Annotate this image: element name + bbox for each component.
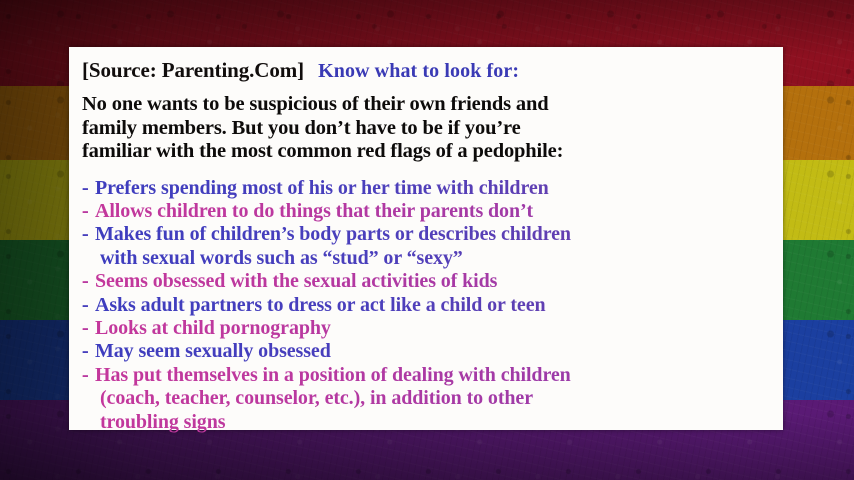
- red-flag-item: -Allows children to do things that their…: [82, 200, 769, 223]
- info-card: [Source: Parenting.Com] Know what to loo…: [69, 47, 783, 430]
- red-flag-text: Looks at child pornography: [95, 317, 331, 340]
- red-flag-text: May seem sexually obsessed: [95, 340, 331, 363]
- red-flag-item: -Has put themselves in a position of dea…: [82, 364, 769, 434]
- headline-row: [Source: Parenting.Com] Know what to loo…: [82, 58, 769, 83]
- bullet-dash-icon: -: [82, 223, 95, 246]
- bullet-dash-icon: -: [82, 177, 95, 200]
- intro-paragraph: No one wants to be suspicious of their o…: [82, 93, 769, 164]
- red-flag-item: -Seems obsessed with the sexual activiti…: [82, 270, 769, 293]
- red-flag-line: Looks at child pornography: [95, 317, 331, 340]
- red-flag-item: -Prefers spending most of his or her tim…: [82, 177, 769, 200]
- red-flag-line: troubling signs: [95, 411, 571, 434]
- bullet-dash-icon: -: [82, 317, 95, 340]
- red-flag-text: Has put themselves in a position of deal…: [95, 364, 571, 434]
- red-flag-item: -Makes fun of children’s body parts or d…: [82, 223, 769, 270]
- red-flag-text: Asks adult partners to dress or act like…: [95, 294, 546, 317]
- red-flag-text: Seems obsessed with the sexual activitie…: [95, 270, 497, 293]
- card-subtitle: Know what to look for:: [318, 60, 519, 83]
- source-attribution: [Source: Parenting.Com]: [82, 58, 304, 83]
- bullet-dash-icon: -: [82, 270, 95, 293]
- red-flag-line: with sexual words such as “stud” or “sex…: [95, 247, 571, 270]
- red-flag-item: -May seem sexually obsessed: [82, 340, 769, 363]
- red-flag-text: Allows children to do things that their …: [95, 200, 533, 223]
- red-flag-line: Asks adult partners to dress or act like…: [95, 294, 546, 317]
- red-flag-line: May seem sexually obsessed: [95, 340, 331, 363]
- intro-line: family members. But you don’t have to be…: [82, 117, 769, 141]
- red-flag-line: Has put themselves in a position of deal…: [95, 364, 571, 387]
- red-flag-item: -Asks adult partners to dress or act lik…: [82, 294, 769, 317]
- red-flag-line: (coach, teacher, counselor, etc.), in ad…: [95, 387, 571, 410]
- red-flags-list: -Prefers spending most of his or her tim…: [82, 177, 769, 434]
- bullet-dash-icon: -: [82, 364, 95, 387]
- red-flag-line: Makes fun of children’s body parts or de…: [95, 223, 571, 246]
- red-flag-line: Allows children to do things that their …: [95, 200, 533, 223]
- red-flag-item: -Looks at child pornography: [82, 317, 769, 340]
- intro-line: No one wants to be suspicious of their o…: [82, 93, 769, 117]
- red-flag-text: Prefers spending most of his or her time…: [95, 177, 549, 200]
- red-flag-text: Makes fun of children’s body parts or de…: [95, 223, 571, 270]
- screenshot-root: [Source: Parenting.Com] Know what to loo…: [0, 0, 854, 480]
- bullet-dash-icon: -: [82, 200, 95, 223]
- red-flag-line: Prefers spending most of his or her time…: [95, 177, 549, 200]
- red-flag-line: Seems obsessed with the sexual activitie…: [95, 270, 497, 293]
- intro-line: familiar with the most common red flags …: [82, 140, 769, 164]
- bullet-dash-icon: -: [82, 294, 95, 317]
- bullet-dash-icon: -: [82, 340, 95, 363]
